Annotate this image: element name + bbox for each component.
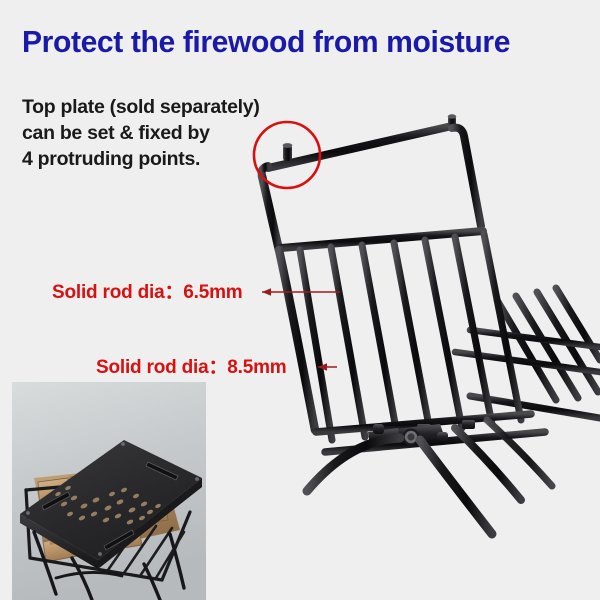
infographic-canvas: Black wire firewood log rack close-up sh…	[0, 0, 600, 600]
inset-product-photo: Firewood log rack with black perforated …	[12, 382, 206, 600]
